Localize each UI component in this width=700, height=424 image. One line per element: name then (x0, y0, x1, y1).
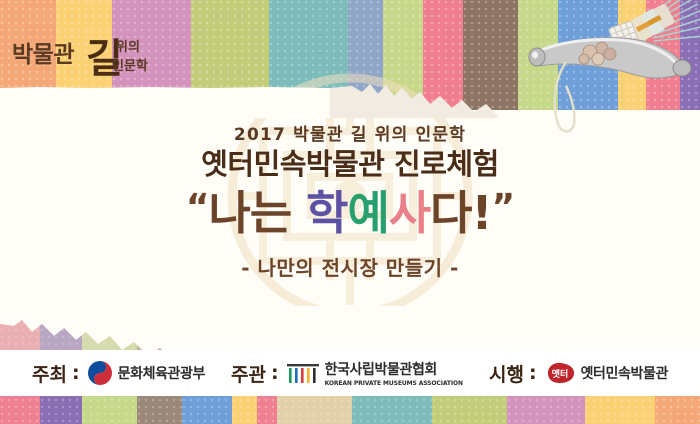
kpma-bars-icon (286, 361, 320, 385)
credits-strip: 주최 : 문화체육관광부 주관 : (0, 350, 700, 396)
brand-word-humanities: 인문학 (112, 58, 148, 74)
quote-close: ” (491, 187, 514, 228)
poster-canvas: 박물관 길 위의 인문학 (0, 0, 700, 424)
top-band-segment-7 (423, 0, 463, 110)
title-part-ye: 예 (348, 186, 389, 240)
credit-organizer-colon: : (271, 362, 279, 384)
quote-open: “ (186, 187, 209, 228)
credit-organizer-org-sub: KOREAN PRIVATE MUSEUMS ASSOCIATION (325, 380, 463, 387)
credit-organizer-org-wrap: 한국사립박물관협회 KOREAN PRIVATE MUSEUMS ASSOCIA… (325, 359, 463, 387)
credit-organizer-label: 주관 (231, 360, 266, 387)
subtitle-line: - 나만의 전시장 만들기 - (0, 252, 700, 281)
title-part-naneun: 나는 (209, 186, 292, 240)
credit-host-org: 문화체육관광부 (118, 363, 205, 383)
top-band-segment-8 (463, 0, 518, 110)
brand-word-museum: 박물관 (12, 42, 74, 68)
yetteo-seal-icon: 옛터 (544, 361, 576, 385)
mcst-taegeuk-icon (87, 360, 113, 386)
title-part-hak: 학 (306, 186, 347, 240)
main-title: “나는 학예사다!” (0, 187, 700, 240)
credit-operator-colon: : (529, 362, 537, 384)
brand-word-above: 위의 (116, 39, 140, 55)
title-part-da: 다! (430, 186, 491, 240)
brand-logo-icon: 박물관 길 위의 인문학 (12, 32, 177, 84)
credit-operator-label: 시행 (489, 360, 524, 387)
top-band-segment-3 (191, 0, 269, 110)
credit-host-label: 주최 (32, 360, 67, 387)
program-line: 옛터민속박물관 진로체험 (0, 147, 700, 181)
credit-host: 주최 : 문화체육관광부 (32, 360, 205, 387)
binyeo-hairpin-ornament-icon (526, 0, 700, 136)
brand-logo: 박물관 길 위의 인문학 (12, 32, 177, 84)
credit-host-colon: : (72, 362, 80, 384)
credit-operator-org: 옛터민속박물관 (581, 363, 668, 383)
top-band-segment-5 (348, 0, 383, 110)
title-part-sa: 사 (389, 186, 430, 240)
top-band-segment-4 (269, 0, 348, 110)
credit-organizer: 주관 : 한국사립박물관협회 KOREAN PRIVATE MUSEUMS AS… (231, 359, 463, 387)
svg-text:옛터: 옛터 (551, 368, 568, 380)
credit-operator: 시행 : 옛터 옛터민속박물관 (489, 360, 668, 387)
credit-organizer-org: 한국사립박물관협회 (325, 362, 437, 378)
top-band-segment-6 (383, 0, 423, 110)
